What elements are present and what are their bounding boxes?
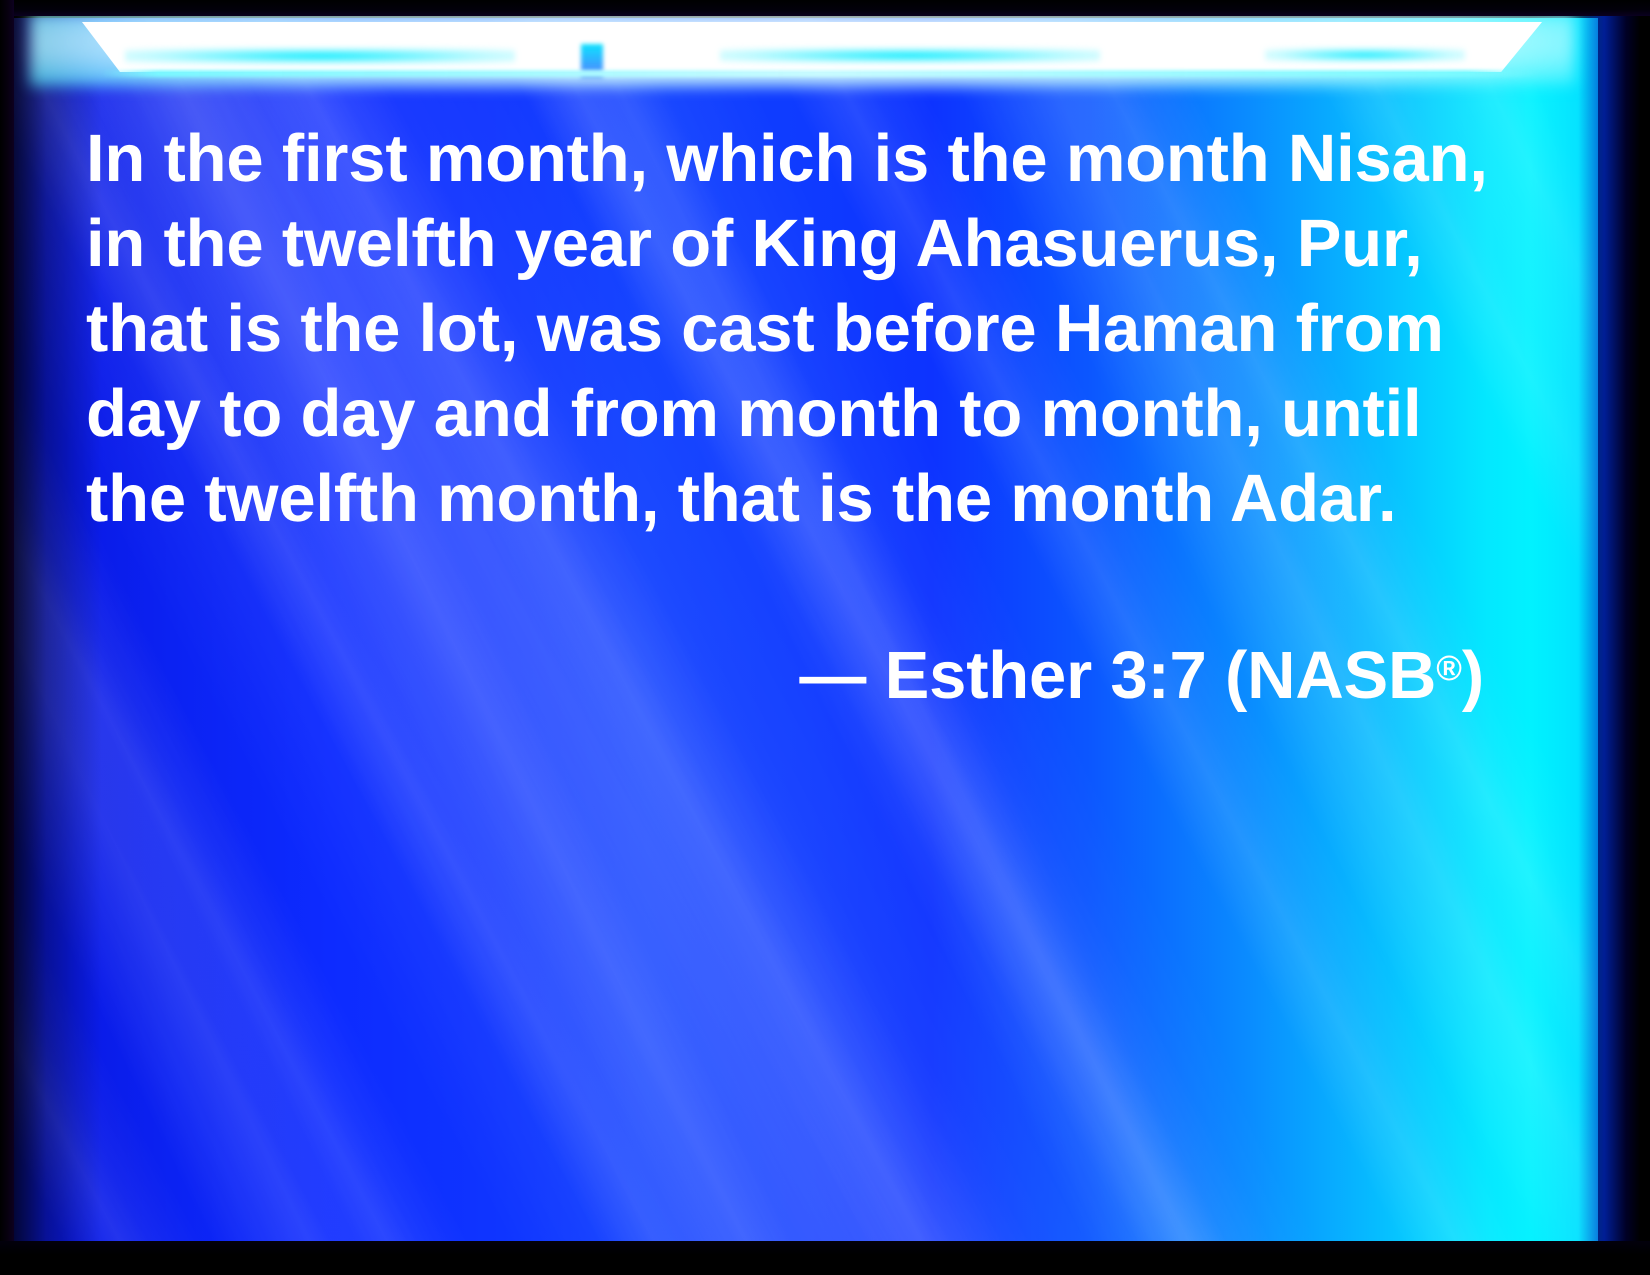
attribution-closing-paren: ) (1462, 638, 1484, 713)
banner-cyan-streak-right (1265, 48, 1465, 62)
top-glow-banner (30, 18, 1575, 80)
verse-body-text: In the first month, which is the month N… (86, 116, 1506, 541)
verse-attribution: — Esther 3:7 (NASB®) (86, 626, 1506, 718)
frame-edge-left (0, 0, 14, 1275)
attribution-em-dash: — (799, 638, 866, 713)
banner-white-core (82, 22, 1542, 72)
background-right-fade (1530, 0, 1650, 1275)
banner-cyan-streak-left (125, 48, 515, 64)
frame-edge-top (0, 0, 1650, 16)
verse-slide: In the first month, which is the month N… (0, 0, 1650, 1275)
frame-edge-bottom (0, 1241, 1650, 1275)
banner-underline-glow (100, 70, 1540, 77)
registered-trademark-icon: ® (1436, 649, 1462, 688)
banner-cyan-streak-center (720, 48, 1100, 63)
attribution-reference-text: Esther 3:7 (NASB (866, 638, 1436, 713)
